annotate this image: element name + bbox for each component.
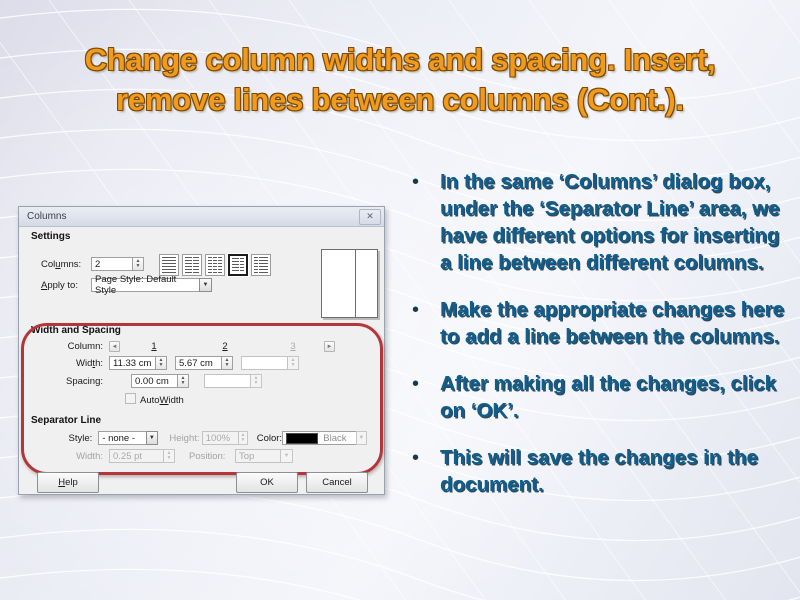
column-header-2: 2 [188, 341, 262, 352]
chevron-down-icon: ▼ [280, 449, 293, 463]
spacing-stepper-1[interactable]: ▲▼ [178, 374, 189, 388]
dialog-footer: Help OK Cancel [29, 472, 374, 492]
preset-two-columns-equal[interactable] [182, 254, 202, 276]
width-spacing-heading: Width and Spacing [31, 325, 367, 336]
chevron-down-icon[interactable]: ▼ [146, 431, 157, 445]
separator-line-group: Separator Line Style: - none - ▼ Height:… [31, 415, 367, 463]
bullet-list: • In the same ‘Columns’ dialog box, unde… [406, 168, 790, 518]
preset-one-column[interactable] [159, 254, 179, 276]
spacing-stepper-2[interactable]: ▲▼ [251, 374, 262, 388]
height-value: 100% [202, 431, 239, 445]
columns-dialog: Columns ✕ Settings Columns: 2 ▲▼ Apply t… [18, 206, 385, 495]
prev-column-arrow-icon[interactable]: ◄ [109, 341, 120, 352]
width-label: Width: [31, 358, 109, 369]
cancel-button[interactable]: Cancel [306, 472, 368, 493]
list-item: • Make the appropriate changes here to a… [406, 296, 790, 350]
column-header-1: 1 [120, 341, 188, 352]
width-input-2[interactable]: 5.67 cm [175, 356, 222, 370]
dialog-title: Columns [27, 211, 359, 222]
preview-column-1 [322, 250, 356, 317]
slide-title: Change column widths and spacing. Insert… [40, 40, 760, 119]
columns-field-row: Columns: 2 ▲▼ [41, 257, 144, 271]
width-stepper-3[interactable]: ▲▼ [288, 356, 299, 370]
bullet-text: After making all the changes, click on ‘… [440, 370, 790, 424]
apply-to-field-row: Apply to: Page Style: Default Style ▼ [41, 278, 212, 292]
separator-width-label: Width: [31, 451, 109, 462]
separator-width-value: 0.25 pt [109, 449, 164, 463]
next-column-arrow-icon[interactable]: ► [324, 341, 335, 352]
style-value[interactable]: - none - [98, 431, 146, 445]
ok-button[interactable]: OK [236, 472, 298, 493]
list-item: • This will save the changes in the docu… [406, 444, 790, 498]
autowidth-label: AutoWidth [140, 395, 184, 406]
color-label: Color: [257, 433, 283, 444]
separator-width-stepper: ▲▼ [164, 449, 175, 463]
bullet-dot-icon: • [406, 370, 440, 398]
dialog-titlebar: Columns ✕ [19, 207, 384, 227]
bullet-dot-icon: • [406, 444, 440, 472]
color-swatch [286, 433, 318, 444]
bullet-dot-icon: • [406, 296, 440, 324]
columns-preview [321, 249, 378, 318]
autowidth-checkbox[interactable] [125, 393, 136, 404]
height-stepper: ▲▼ [239, 431, 249, 445]
position-label: Position: [189, 451, 235, 462]
width-and-spacing-group: Width and Spacing Column: ◄ 1 2 3 ► Widt… [31, 325, 367, 406]
dialog-body: Settings Columns: 2 ▲▼ Apply to: Page St… [19, 227, 384, 500]
separator-line-heading: Separator Line [31, 415, 367, 426]
color-name: Black [323, 433, 346, 444]
chevron-down-icon[interactable]: ▼ [199, 278, 212, 292]
bullet-text: This will save the changes in the docume… [440, 444, 790, 498]
close-icon[interactable]: ✕ [359, 209, 381, 225]
height-label: Height: [169, 433, 201, 444]
preset-two-columns-left-wide[interactable] [228, 254, 248, 276]
apply-to-label: Apply to: [41, 280, 91, 291]
column-preset-group [159, 254, 271, 276]
settings-heading: Settings [31, 231, 70, 242]
width-stepper-1[interactable]: ▲▼ [156, 356, 167, 370]
chevron-down-icon[interactable]: ▼ [356, 431, 367, 445]
slide-root: Change column widths and spacing. Insert… [0, 0, 800, 600]
columns-input[interactable]: 2 [91, 257, 133, 271]
preset-two-columns-right-wide[interactable] [251, 254, 271, 276]
bullet-text: In the same ‘Columns’ dialog box, under … [440, 168, 790, 276]
width-stepper-2[interactable]: ▲▼ [222, 356, 233, 370]
column-label: Column: [31, 341, 109, 352]
bullet-dot-icon: • [406, 168, 440, 196]
spacing-input-2[interactable] [204, 374, 251, 388]
spacing-label: Spacing: [31, 376, 109, 387]
width-input-1[interactable]: 11.33 cm [109, 356, 156, 370]
apply-to-value[interactable]: Page Style: Default Style [91, 278, 199, 292]
position-value: Top [235, 449, 280, 463]
bullet-text: Make the appropriate changes here to add… [440, 296, 790, 350]
help-label: elp [65, 477, 78, 488]
help-button[interactable]: Help [37, 472, 99, 493]
style-label: Style: [31, 433, 98, 444]
color-value[interactable]: Black [282, 431, 355, 445]
preset-three-columns-equal[interactable] [205, 254, 225, 276]
width-input-3[interactable] [241, 356, 288, 370]
list-item: • After making all the changes, click on… [406, 370, 790, 424]
columns-label: Columns: [41, 259, 91, 270]
list-item: • In the same ‘Columns’ dialog box, unde… [406, 168, 790, 276]
spacing-input-1[interactable]: 0.00 cm [131, 374, 178, 388]
column-header-3: 3 [262, 341, 324, 352]
preview-column-2 [356, 250, 377, 317]
columns-stepper[interactable]: ▲▼ [133, 257, 144, 271]
